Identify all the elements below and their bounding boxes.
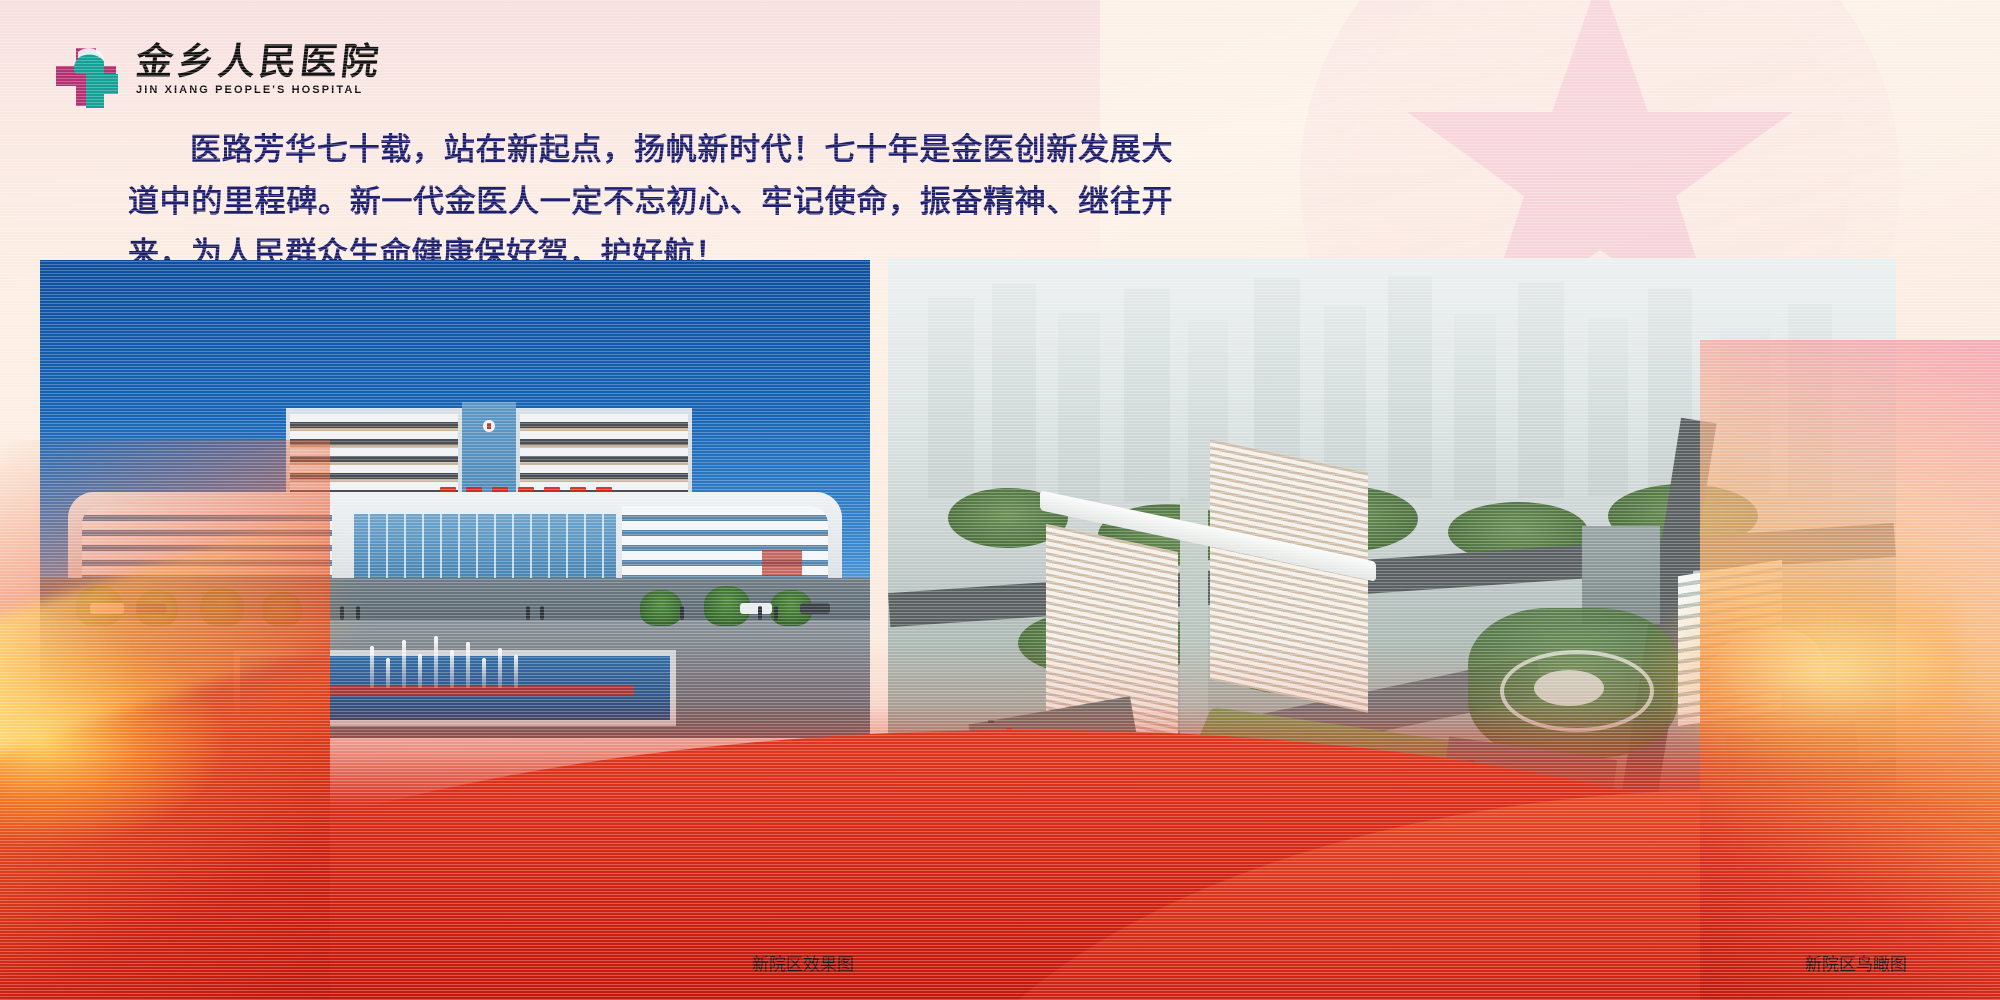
distant-tower (1588, 318, 1628, 496)
distant-tower (1124, 288, 1170, 502)
body-paragraph: 医路芳华七十载，站在新起点，扬帆新时代！七十年是金医创新发展大道中的里程碑。新一… (128, 124, 1173, 280)
distant-tower (992, 284, 1036, 500)
pedestrian (774, 606, 778, 620)
parked-car (800, 603, 830, 614)
tower-roof-cross-mark (487, 423, 491, 429)
medical-cross-icon (52, 46, 124, 108)
distant-tower (1388, 276, 1432, 498)
gold-glow (1640, 570, 1960, 770)
hospital-logo: 金乡人民医院 JIN XIANG PEOPLE'S HOSPITAL (52, 44, 382, 108)
pedestrian (540, 606, 544, 620)
red-ribbon-right (1700, 340, 2000, 1000)
hospital-name-cn: 金乡人民医院 (134, 44, 384, 82)
pedestrian (680, 606, 684, 620)
parked-car (740, 603, 772, 614)
gold-light-ray (0, 508, 370, 761)
caption-left: 新院区效果图 (752, 950, 854, 975)
distant-tower (928, 298, 974, 498)
hospital-name-en: JIN XIANG PEOPLE'S HOSPITAL (136, 85, 363, 96)
podium-right-accent (762, 550, 802, 576)
distant-tower (1518, 282, 1564, 498)
distant-tower (1454, 314, 1496, 500)
tree (640, 590, 682, 626)
distant-tower (1058, 312, 1100, 502)
caption-right: 新院区鸟瞰图 (1805, 950, 1907, 975)
red-ribbon-left (0, 440, 330, 1000)
poster-canvas: 金乡人民医院 JIN XIANG PEOPLE'S HOSPITAL 医路芳华七… (0, 0, 2000, 1000)
pedestrian (526, 606, 530, 620)
pedestrian (758, 606, 762, 620)
